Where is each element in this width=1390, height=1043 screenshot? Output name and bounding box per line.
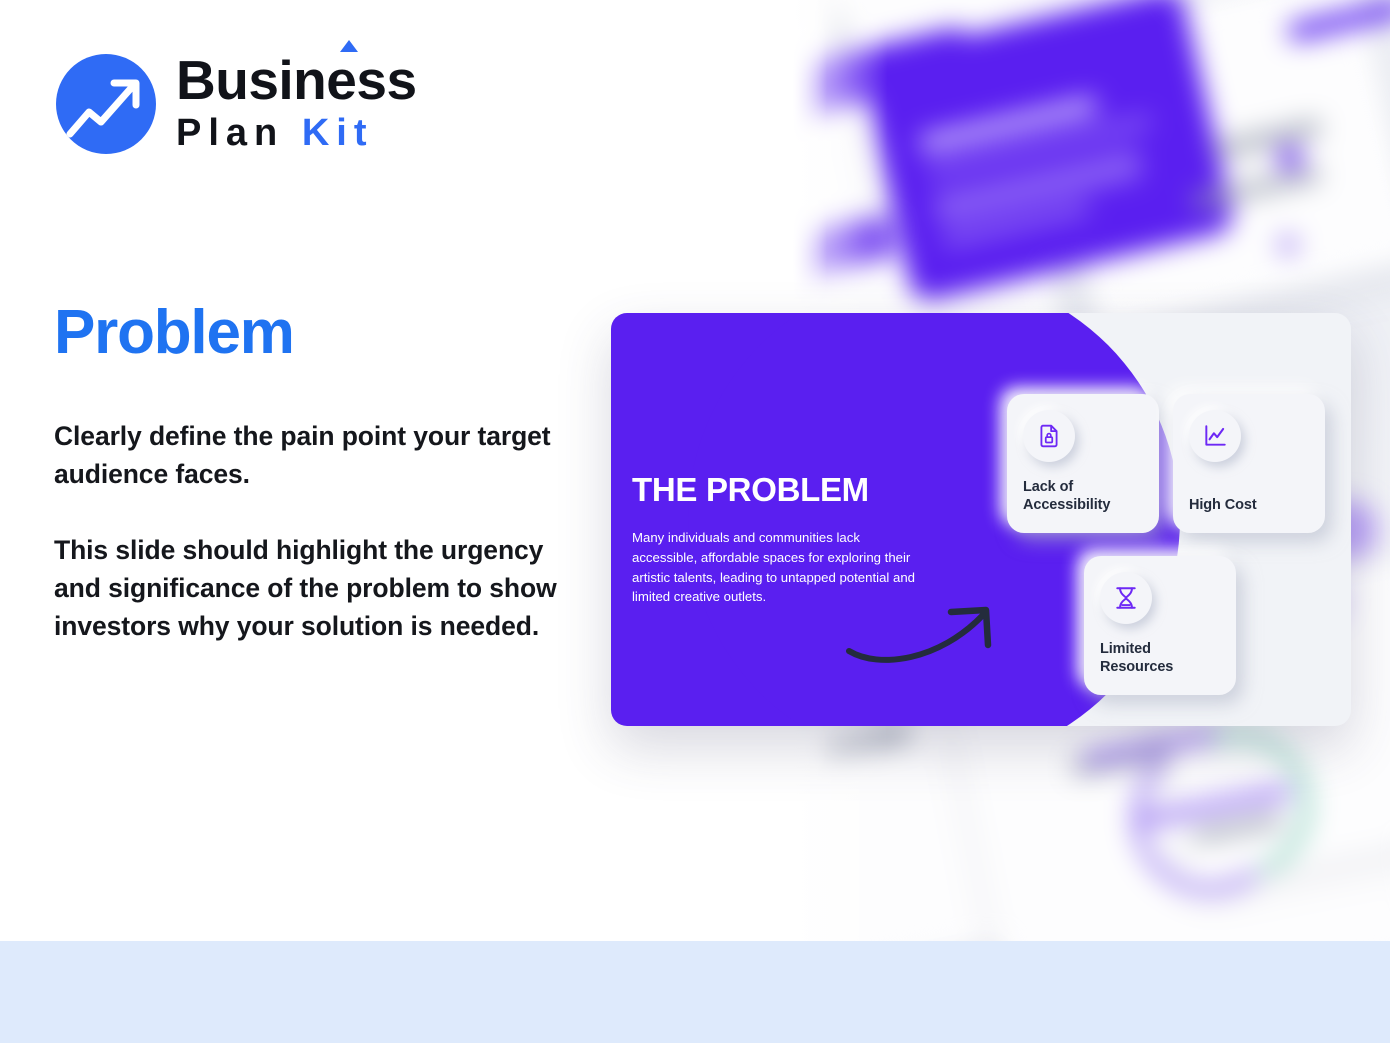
slide-text-block: THE PROBLEM Many individuals and communi… bbox=[632, 473, 932, 607]
page-body: Clearly define the pain point your targe… bbox=[54, 418, 594, 645]
feature-card-high-cost[interactable]: High Cost bbox=[1173, 394, 1325, 533]
brand-name-line2: Plan Kit bbox=[176, 112, 417, 156]
page-root: Business Plan Kit Problem Clearly define… bbox=[0, 0, 1390, 1043]
feature-label: Lack of Accessibility bbox=[1023, 479, 1149, 515]
hourglass-icon bbox=[1100, 572, 1152, 624]
brand-logo: Business Plan Kit bbox=[56, 53, 417, 156]
line-chart-icon bbox=[1189, 410, 1241, 462]
curved-arrow-up-right-icon bbox=[843, 595, 1008, 670]
brand-wordmark: Business Plan Kit bbox=[176, 53, 417, 156]
background-dot bbox=[1277, 145, 1303, 171]
feature-card-limited-resources[interactable]: Limited Resources bbox=[1084, 556, 1236, 695]
background-dot bbox=[1278, 235, 1298, 255]
slide-preview-card[interactable]: THE PROBLEM Many individuals and communi… bbox=[611, 313, 1351, 726]
brand-name-kit: Kit bbox=[302, 112, 374, 154]
feature-card-lack-of-accessibility[interactable]: Lack of Accessibility bbox=[1007, 394, 1159, 533]
brand-name-plan: Plan bbox=[176, 112, 284, 154]
brand-caret-icon bbox=[340, 40, 358, 52]
feature-label: Limited Resources bbox=[1100, 641, 1226, 677]
growth-arrow-circle-icon bbox=[56, 54, 156, 154]
feature-label: High Cost bbox=[1189, 497, 1315, 515]
document-lock-icon bbox=[1023, 410, 1075, 462]
bottom-accent-band bbox=[0, 941, 1390, 1043]
brand-name-line1-text: Business bbox=[176, 49, 417, 111]
slide-heading: THE PROBLEM bbox=[632, 473, 932, 506]
body-paragraph: This slide should highlight the urgency … bbox=[54, 532, 594, 646]
brand-name-line1: Business bbox=[176, 53, 417, 108]
body-paragraph: Clearly define the pain point your targe… bbox=[54, 418, 594, 494]
page-title: Problem bbox=[54, 297, 294, 368]
